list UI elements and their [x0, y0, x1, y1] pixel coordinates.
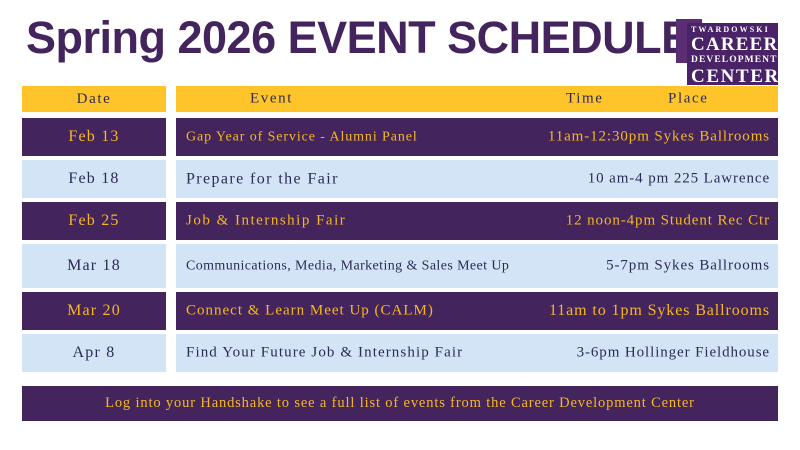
time-place-value: 5-7pm Sykes Ballrooms	[606, 258, 770, 275]
date-value: Feb 18	[68, 170, 119, 188]
event-value: Communications, Media, Marketing & Sales…	[186, 258, 509, 275]
time-place-value: 10 am-4 pm 225 Lawrence	[588, 171, 770, 188]
logo-notch-side	[676, 41, 687, 63]
column-header-event-label: Event	[250, 91, 293, 108]
cell-event-time-place: Prepare for the Fair 10 am-4 pm 225 Lawr…	[176, 160, 778, 198]
cell-date: Feb 25	[22, 202, 166, 240]
date-value: Feb 13	[68, 128, 119, 146]
cell-event-time-place: Gap Year of Service - Alumni Panel 11am-…	[176, 118, 778, 156]
column-header-place-label: Place	[668, 91, 708, 108]
date-value: Feb 25	[68, 212, 119, 230]
logo-line-center: CENTER	[691, 67, 775, 86]
table-row[interactable]: Mar 18 Communications, Media, Marketing …	[0, 244, 800, 288]
date-value: Mar 20	[67, 302, 121, 320]
table-row[interactable]: Feb 18 Prepare for the Fair 10 am-4 pm 2…	[0, 160, 800, 198]
cell-event-time-place: Communications, Media, Marketing & Sales…	[176, 244, 778, 288]
column-header-group: Event Time Place	[176, 86, 778, 112]
logo-line-career: CAREER	[691, 35, 775, 54]
event-value: Job & Internship Fair	[186, 213, 346, 230]
column-header-date-label: Date	[77, 91, 112, 108]
table-row[interactable]: Mar 20 Connect & Learn Meet Up (CALM) 11…	[0, 292, 800, 330]
date-value: Mar 18	[67, 257, 121, 275]
time-place-value: 11am to 1pm Sykes Ballrooms	[549, 302, 770, 320]
time-place-value: 3-6pm Hollinger Fieldhouse	[577, 345, 770, 362]
event-value: Find Your Future Job & Internship Fair	[186, 345, 463, 362]
table-row[interactable]: Feb 25 Job & Internship Fair 12 noon-4pm…	[0, 202, 800, 240]
cell-date: Mar 18	[22, 244, 166, 288]
logo-box: TWARDOWSKI CAREER DEVELOPMENT CENTER	[687, 23, 778, 85]
event-value: Prepare for the Fair	[186, 171, 339, 188]
date-value: Apr 8	[73, 344, 116, 362]
footer-text: Log into your Handshake to see a full li…	[105, 395, 695, 412]
column-header-date: Date	[22, 86, 166, 112]
cell-event-time-place: Job & Internship Fair 12 noon-4pm Studen…	[176, 202, 778, 240]
cell-date: Apr 8	[22, 334, 166, 372]
table-row[interactable]: Feb 13 Gap Year of Service - Alumni Pane…	[0, 118, 800, 156]
event-value: Gap Year of Service - Alumni Panel	[186, 129, 418, 146]
footer-banner: Log into your Handshake to see a full li…	[22, 386, 778, 421]
page-title: Spring 2026 EVENT SCHEDULE	[26, 12, 691, 64]
time-place-value: 12 noon-4pm Student Rec Ctr	[566, 213, 770, 230]
column-header-time-label: Time	[566, 91, 604, 108]
event-value: Connect & Learn Meet Up (CALM)	[186, 303, 434, 320]
page-header: Spring 2026 EVENT SCHEDULE TWARDOWSKI CA…	[0, 0, 800, 86]
cell-event-time-place: Connect & Learn Meet Up (CALM) 11am to 1…	[176, 292, 778, 330]
cell-date: Mar 20	[22, 292, 166, 330]
event-schedule-table: Date Event Time Place Feb 13 Gap Year of…	[0, 86, 800, 376]
career-development-center-logo: TWARDOWSKI CAREER DEVELOPMENT CENTER	[676, 19, 778, 85]
table-header-row: Date Event Time Place	[0, 86, 800, 112]
cell-event-time-place: Find Your Future Job & Internship Fair 3…	[176, 334, 778, 372]
table-row[interactable]: Apr 8 Find Your Future Job & Internship …	[0, 334, 800, 372]
time-place-value: 11am-12:30pm Sykes Ballrooms	[548, 129, 770, 146]
cell-date: Feb 18	[22, 160, 166, 198]
cell-date: Feb 13	[22, 118, 166, 156]
